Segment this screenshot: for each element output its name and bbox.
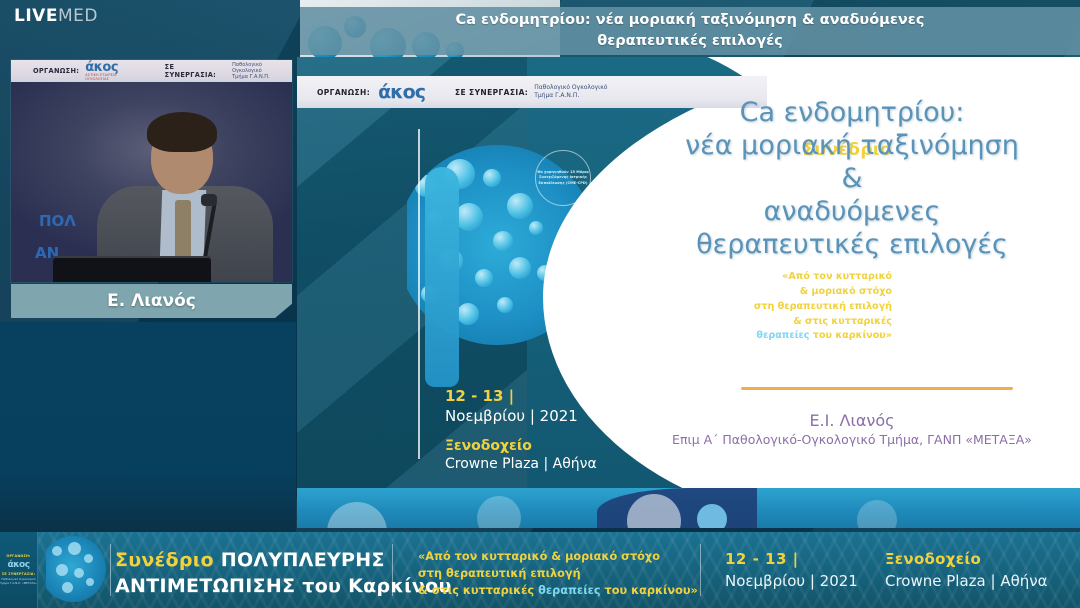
microphone-head <box>201 194 217 206</box>
slide-title-line-5: θεραπευτικές επιλογές <box>627 229 1077 262</box>
slide-title-rule <box>741 387 1013 390</box>
slide-main-title: Ca ενδομητρίου: νέα μοριακή ταξινόμηση &… <box>627 97 1077 262</box>
backdrop-text-pol: ΠΟΛ <box>39 212 76 230</box>
slide-author-affiliation: Επιμ Α΄ Παθολογικό-Ογκολογικό Τμήμα, ΓΑΝ… <box>602 432 1080 447</box>
slide-title-line-2: νέα μοριακή ταξινόμηση <box>627 130 1077 163</box>
slide-author-name: Ε.Ι. Λιανός <box>627 409 1077 433</box>
footer-title-2a: ΑΝΤΙΜΕΤΩΠΙΣΗΣ <box>115 575 302 597</box>
slide-akos-logo: άκος <box>378 81 425 103</box>
footer-cell-cluster-icon <box>40 536 106 602</box>
slide-title-line-1: Ca ενδομητρίου: <box>627 97 1077 130</box>
speaker-video-feed[interactable]: ΠΟΛ ΑΝ <box>11 82 292 282</box>
video-org-label: ΟΡΓΑΝΩΣΗ: <box>33 67 79 75</box>
poster-rule <box>780 262 892 263</box>
session-title-bar: Ca ενδομητρίου: νέα μοριακή ταξινόμηση &… <box>300 7 1080 55</box>
footer-venue-line-1: Ξενοδοχείο <box>885 549 1048 571</box>
footer-quote-line-2: στη θεραπευτική επιλογή <box>418 566 698 583</box>
event-footer-banner: ΟΡΓΑΝΩΣΗ: άκος ΣΕ ΣΥΝΕΡΓΑΣΙΑ: Παθολογικό… <box>0 532 1080 608</box>
footer-title-1a: Συνέδριο <box>115 549 221 571</box>
footer-partner-label: ΣΕ ΣΥΝΕΡΓΑΣΙΑ: <box>2 572 35 576</box>
footer-quote-line-1: «Από τον κυτταρικό & μοριακό στόχο <box>418 549 698 566</box>
logo-live: LIVE <box>14 6 58 26</box>
footer-dates-line-2: Νοεμβρίου | 2021 <box>725 571 858 593</box>
slide-partner-label: ΣΕ ΣΥΝΕΡΓΑΣΙΑ: <box>455 88 528 97</box>
left-panel-fill <box>0 322 296 532</box>
session-title-text: Ca ενδομητρίου: νέα μοριακή ταξινόμηση &… <box>438 10 943 52</box>
poster-quote: «Από τον κυτταρικό & μοριακό στόχο στη θ… <box>742 270 892 344</box>
footer-partner-text: Παθολογικό Ογκολογικό Τμήμα Γ.Α.Ν.Π. «ΜΕ… <box>0 578 37 586</box>
speaker-video-panel[interactable]: ΟΡΓΑΝΩΣΗ: άκος ΑΣΤΙΚΗ ΕΤΑΙΡΕΙΑ ΟΓΚΟΛΟΓΙΑ… <box>11 60 292 282</box>
session-title-line-1: Ca ενδομητρίου: νέα μοριακή ταξινόμηση &… <box>456 10 925 31</box>
video-overlay-org-strip: ΟΡΓΑΝΩΣΗ: άκος ΑΣΤΙΚΗ ΕΤΑΙΡΕΙΑ ΟΓΚΟΛΟΓΙΑ… <box>11 60 292 82</box>
session-title-line-2: θεραπευτικές επιλογές <box>456 31 925 52</box>
poster-dates: 12 - 13 | Νοεμβρίου | 2021 <box>445 387 578 427</box>
footer-divider-3 <box>700 544 701 596</box>
broadcast-viewport: LIVEMED Ca ενδομητρίου: νέα μοριακή ταξι… <box>0 0 1080 608</box>
footer-organizer-logo: ΟΡΓΑΝΩΣΗ: άκος ΣΕ ΣΥΝΕΡΓΑΣΙΑ: Παθολογικό… <box>0 532 38 608</box>
video-partner-label: ΣΕ ΣΥΝΕΡΓΑΣΙΑ: <box>165 63 227 79</box>
footer-venue-line-2: Crowne Plaza | Αθήνα <box>885 571 1048 593</box>
cme-badge: Θα χορηγηθούν 15 Μόρια Συνεχιζόμενης Ιατ… <box>535 150 591 206</box>
slide-footer-decoration <box>297 488 1080 528</box>
footer-akos-mark: άκος <box>7 560 29 570</box>
slide-human-figure <box>425 167 459 387</box>
footer-venue: Ξενοδοχείο Crowne Plaza | Αθήνα <box>885 549 1048 593</box>
logo-med: MED <box>58 6 98 26</box>
slide-title-line-4: αναδυόμενες <box>627 196 1077 229</box>
cme-badge-text: Θα χορηγηθούν 15 Μόρια Συνεχιζόμενης Ιατ… <box>536 170 590 186</box>
footer-dates: 12 - 13 | Νοεμβρίου | 2021 <box>725 549 858 593</box>
footer-dates-line-1: 12 - 13 | <box>725 549 858 571</box>
livemed-logo[interactable]: LIVEMED <box>14 8 98 25</box>
speaker-hair <box>147 112 217 152</box>
slide-title-line-3: & <box>627 163 1077 196</box>
video-partner-text: Παθολογικό Ογκολογικό Τμήμα Γ.Α.Ν.Π. <box>232 62 292 81</box>
footer-quote: «Από τον κυτταρικό & μοριακό στόχο στη θ… <box>418 549 698 600</box>
footer-title-1b: ΠΟΛΥΠΛΕΥΡΗΣ <box>221 549 385 571</box>
video-akos-logo: άκος ΑΣΤΙΚΗ ΕΤΑΙΡΕΙΑ ΟΓΚΟΛΟΓΙΑΣ <box>85 61 140 81</box>
slide-partner-text: Παθολογικό Ογκολογικό Τμήμα Γ.Α.Ν.Π. <box>534 84 607 100</box>
slide-org-label: ΟΡΓΑΝΩΣΗ: <box>317 88 370 97</box>
footer-quote-line-3: & στις κυτταρικές θεραπείες του καρκίνου… <box>418 583 698 600</box>
presentation-slide[interactable]: Θα χορηγηθούν 15 Μόρια Συνεχιζόμενης Ιατ… <box>297 57 1080 528</box>
footer-divider-1 <box>110 544 111 596</box>
speaker-tie <box>175 200 191 262</box>
speaker-name-plate: Ε. Λιανός <box>11 284 292 318</box>
slide-vertical-divider <box>418 129 420 459</box>
footer-divider-2 <box>392 544 393 596</box>
footer-event-title: Συνέδριο ΠΟΛΥΠΛΕΥΡΗΣ ΑΝΤΙΜΕΤΩΠΙΣΗΣ του Κ… <box>115 547 452 599</box>
footer-org-label: ΟΡΓΑΝΩΣΗ: <box>6 554 30 558</box>
speaker-name-text: Ε. Λιανός <box>107 291 196 311</box>
laptop <box>53 256 211 282</box>
poster-hotel: Ξενοδοχείο Crowne Plaza | Αθήνα <box>445 437 597 474</box>
